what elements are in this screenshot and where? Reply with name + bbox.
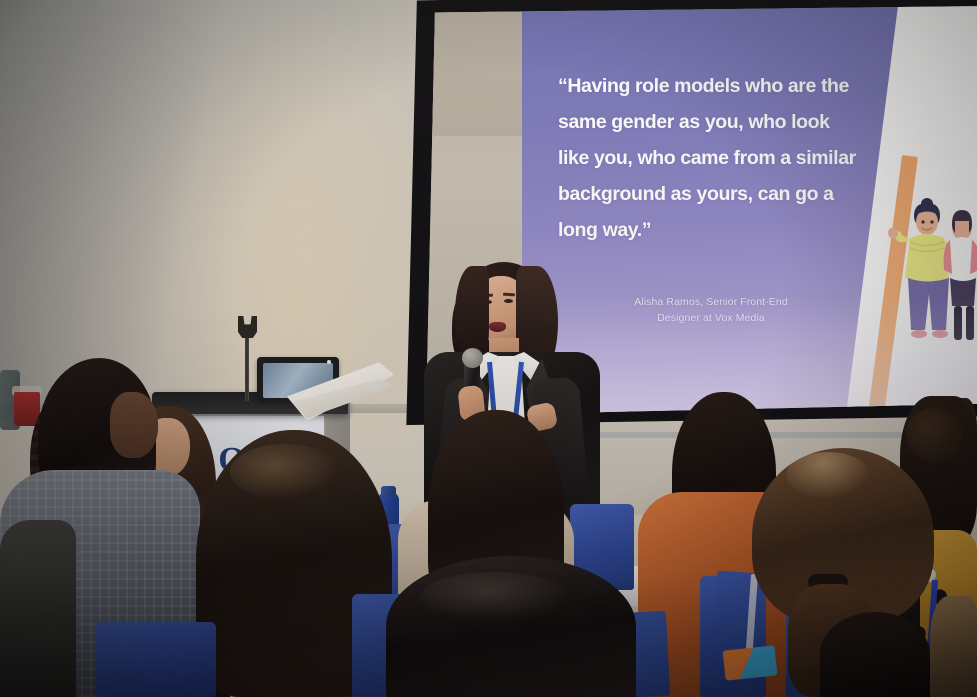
speaker-eyebrow-right xyxy=(503,293,515,297)
attendee-hair-bun xyxy=(906,408,962,462)
speaker-eye-right xyxy=(504,299,513,303)
handheld-microphone-head xyxy=(462,348,483,368)
microphone-stand xyxy=(245,333,249,401)
conference-photo: “Having role models who are the same gen… xyxy=(0,0,977,697)
screen-unlit-mid xyxy=(426,6,522,136)
slide-attribution: Alisha Ramos, Senior Front-End Designer … xyxy=(566,294,856,326)
conference-swag-item xyxy=(723,645,778,680)
water-bottle-cap xyxy=(381,486,396,496)
podium-monitor-led-icon xyxy=(327,360,331,364)
presentation-slide: “Having role models who are the same gen… xyxy=(522,6,977,416)
slide-quote-text: “Having role models who are the same gen… xyxy=(558,68,858,248)
attendee-dark-coat xyxy=(0,520,76,697)
hair-highlight xyxy=(420,572,570,622)
attendee-light-hair-edge xyxy=(930,596,977,697)
two-women-standing-illustration xyxy=(858,182,977,402)
attribution-line-2: Designer at Vox Media xyxy=(566,310,856,326)
hair-part-highlight xyxy=(786,452,870,498)
hair-highlight xyxy=(230,444,340,500)
speaker-mouth xyxy=(489,322,506,332)
attribution-line-1: Alisha Ramos, Senior Front-End xyxy=(566,294,856,310)
attendee-foreground-head xyxy=(820,612,930,697)
audience-chair xyxy=(96,622,216,697)
attendee-face-profile xyxy=(110,392,158,458)
